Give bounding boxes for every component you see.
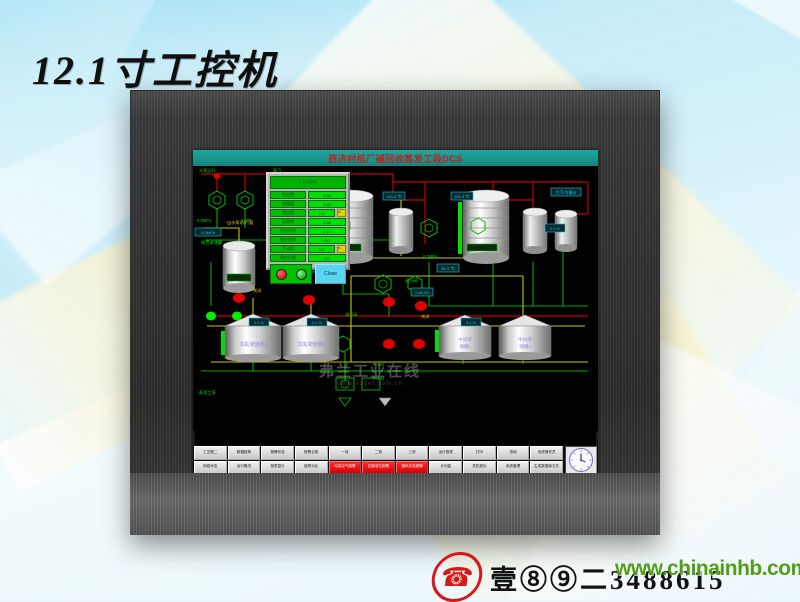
nav-button[interactable]: 报警记录 [295,446,328,460]
industrial-panel-pc: 西济村纸厂碱回收蒸发工段DCS [130,90,660,535]
storage-tank-d: 中间液 储槽2 [499,315,551,360]
nav-button[interactable]: 系统管理 [497,461,530,475]
alarm-button[interactable]: 过程液位报警 [362,461,395,475]
nav-button[interactable]: 网络状态 [194,461,227,475]
svg-text:生汽/冷凝水: 生汽/冷凝水 [555,189,576,195]
dcs-navigation-bar: 工艺图二数据趋势报警状态报警记录一效二效三效运行报表打印查询系统操作员网络状态运… [193,445,598,475]
nav-button[interactable]: 打印 [463,446,496,460]
svg-text:关闭: 关闭 [253,287,261,294]
dialog-param-value[interactable]: 0.10 [308,227,346,235]
dialog-param-label: 测量值 [270,200,306,208]
dialog-param-value[interactable]: 0.0 [308,254,346,262]
nav-button[interactable]: 报警状态 [261,446,294,460]
dialog-close-button[interactable]: Close [315,264,346,284]
clock-widget [565,446,597,474]
phone-icon: ☎ [428,552,485,602]
alarm-button[interactable]: 通讯状态报警 [396,461,429,475]
svg-text:0.00 t/h: 0.00 t/h [415,290,428,295]
svg-text:浓黑液储槽1: 浓黑液储槽1 [239,341,267,348]
evaporator-2 [458,190,509,264]
process-diagram: 浓黑液储槽1 浓黑液储槽2 中间液 储槽1 [193,166,598,431]
page-title: 12.1寸工控机 [32,38,278,96]
dialog-param-row[interactable]: 输出值0.0% [270,209,346,217]
svg-text:关闭: 关闭 [421,313,429,320]
dialog-param-value[interactable]: 0.0 [308,209,335,217]
svg-text:储槽2: 储槽2 [519,343,531,350]
svg-text:调节阀: 调节阀 [405,277,418,284]
dialog-param-row[interactable]: 积分时间0.10 [270,227,346,235]
nav-button[interactable]: 三效 [396,446,429,460]
svg-text:0.0 %: 0.0 % [466,320,477,325]
dialog-param-label: 输出值 [270,209,306,217]
svg-text:P-102: P-102 [373,376,385,381]
nav-button[interactable]: 趋势对比 [295,461,328,475]
dialog-param-value[interactable]: 0.00 [308,200,346,208]
dialog-footer: Close [270,264,346,284]
dialog-param-row[interactable]: 手动值0.0% [270,245,346,253]
svg-text:0.0 %: 0.0 % [254,320,265,325]
dialog-param-value[interactable]: 0.0 [308,245,335,253]
svg-text:102.5 ℃: 102.5 ℃ [454,194,470,199]
dialog-param-value[interactable]: 2.00 [308,218,346,226]
nav-button[interactable]: 数据趋势 [228,446,261,460]
dialog-param-label: 手动值 [270,245,306,253]
manual-mode-button[interactable] [276,269,287,280]
dialog-tag-title: L107PA [270,176,346,189]
auto-mode-button[interactable] [296,269,307,280]
alarm-button[interactable]: 污染空气报警 [329,461,362,475]
svg-text:0.0MPa: 0.0MPa [201,230,216,235]
dialog-param-row[interactable]: 比例带2.00 [270,218,346,226]
monitor-bezel-bottom [130,473,660,535]
dialog-param-row[interactable]: 测量值0.00 [270,200,346,208]
dcs-title-bar: 西济村纸厂碱回收蒸发工段DCS [193,150,598,166]
dialog-param-label: 微分时间 [270,236,306,244]
nav-button[interactable]: 工艺图二 [194,446,227,460]
svg-text:0.0MPa: 0.0MPa [197,218,212,223]
dialog-param-value[interactable]: 0.00 [308,191,346,199]
tank-feed-left [223,241,255,293]
dialog-param-row[interactable]: 给定值0.00 [270,191,346,199]
nav-button[interactable]: 报表显示 [261,461,294,475]
dialog-param-row[interactable]: 微分时间0.0 [270,236,346,244]
svg-text:0.0 %: 0.0 % [312,320,323,325]
svg-text:0.0 %: 0.0 % [550,226,561,231]
svg-text:0.0MPa: 0.0MPa [423,254,438,259]
dcs-screen: 西济村纸厂碱回收蒸发工段DCS [193,150,598,475]
dialog-param-label: 给定值 [270,191,306,199]
pid-faceplate-dialog[interactable]: L107PA 给定值0.00测量值0.00输出值0.0%比例带2.00积分时间0… [266,172,350,270]
svg-text:86.3 ℃: 86.3 ℃ [441,266,455,271]
nav-button[interactable]: 系统操作员 [530,446,563,460]
svg-text:中间液: 中间液 [458,336,472,343]
dialog-param-unit: % [337,245,346,253]
nav-button[interactable]: 一效 [329,446,362,460]
dialog-param-label: 比例带 [270,218,306,226]
dialog-parameter-list: 给定值0.00测量值0.00输出值0.0%比例带2.00积分时间0.10微分时间… [270,191,346,262]
nav-button[interactable]: 计划量 [429,461,462,475]
dialog-param-row[interactable]: 阀位反馈0.0 [270,254,346,262]
dialog-param-value[interactable]: 0.0 [308,236,346,244]
process-svg: 浓黑液储槽1 浓黑液储槽2 中间液 储槽1 [193,166,598,431]
svg-text:浓黑液储槽2: 浓黑液储槽2 [297,341,325,348]
analog-clock-icon [568,447,594,473]
svg-text:150.2 ℃: 150.2 ℃ [386,194,402,199]
dialog-param-unit: % [337,209,346,217]
nav-button[interactable]: 运行报表 [429,446,462,460]
svg-text:水泵运行: 水泵运行 [199,167,216,174]
svg-text:储槽1: 储槽1 [459,343,471,350]
svg-text:稀黑液储罐: 稀黑液储罐 [201,239,223,246]
svg-text:出水泵站/汽管: 出水泵站/汽管 [227,219,253,226]
nav-button[interactable]: 查询 [497,446,530,460]
nav-button[interactable]: 生成数据库文件 [530,461,563,475]
dialog-param-label: 阀位反馈 [270,254,306,262]
mode-button-pair[interactable] [270,264,312,284]
website-url: www.chinainhb.com [615,557,800,581]
nav-button[interactable]: 二效 [362,446,395,460]
svg-text:蒸发工段: 蒸发工段 [199,389,217,396]
dcs-button-grid: 工艺图二数据趋势报警状态报警记录一效二效三效运行报表打印查询系统操作员网络状态运… [194,446,563,474]
separator-vessel-2 [523,208,547,254]
svg-text:调节阀: 调节阀 [345,311,358,318]
svg-text:P-101: P-101 [373,362,385,367]
separator-vessel-1 [389,208,413,254]
nav-button[interactable]: 关机退出 [463,461,496,475]
svg-text:中间液: 中间液 [518,336,532,343]
dialog-param-label: 积分时间 [270,227,306,235]
bottom-pump-group [336,378,391,406]
nav-button[interactable]: 运行概况 [228,461,261,475]
